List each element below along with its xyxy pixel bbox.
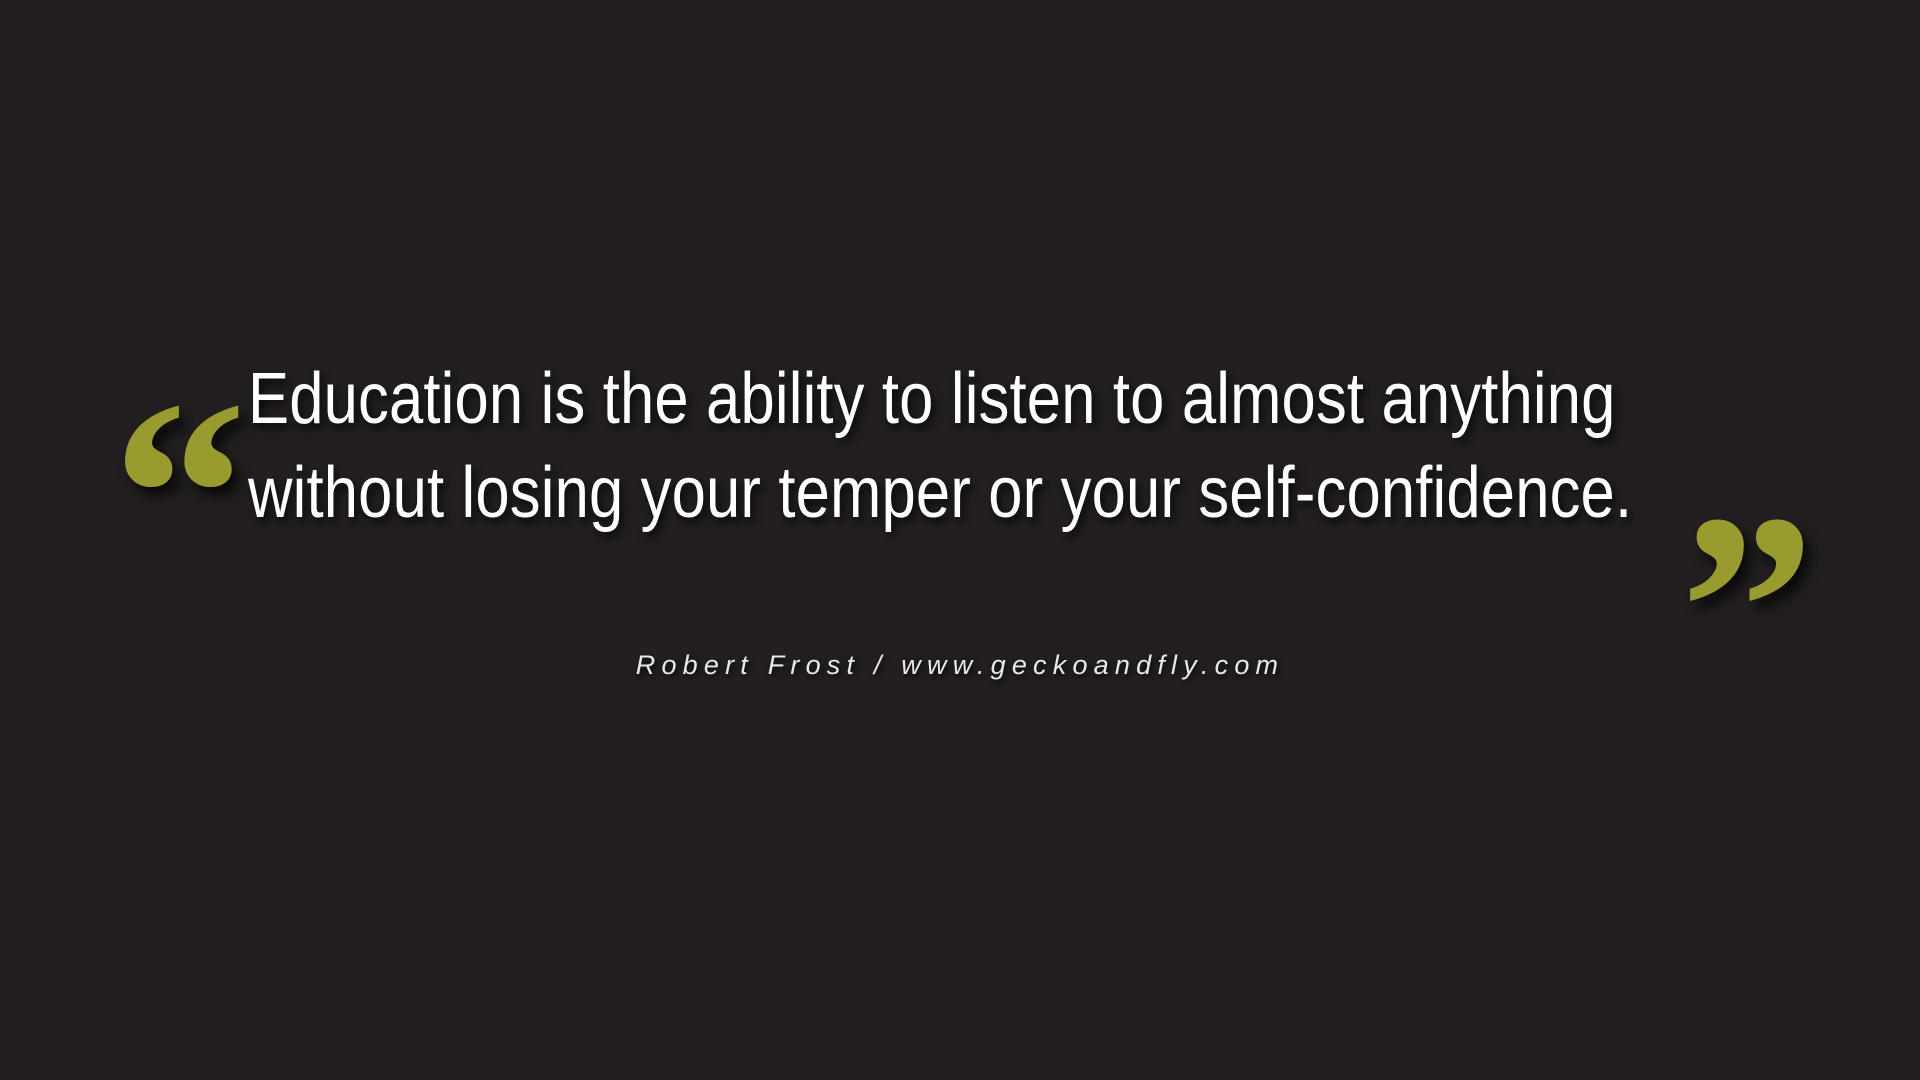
attribution-line: Robert Frost / www.geckoandfly.com	[0, 650, 1920, 681]
closing-quote-mark-icon: ”	[1680, 474, 1809, 744]
quote-poster: “ Education is the ability to listen to …	[0, 0, 1920, 1080]
quote-block: “ Education is the ability to listen to …	[0, 352, 1920, 622]
quote-text: Education is the ability to listen to al…	[248, 352, 1668, 540]
opening-quote-mark-icon: “	[112, 360, 241, 630]
quote-line-2: without losing your temper or your self-…	[248, 446, 1462, 540]
quote-line-1: Education is the ability to listen to al…	[248, 352, 1462, 446]
